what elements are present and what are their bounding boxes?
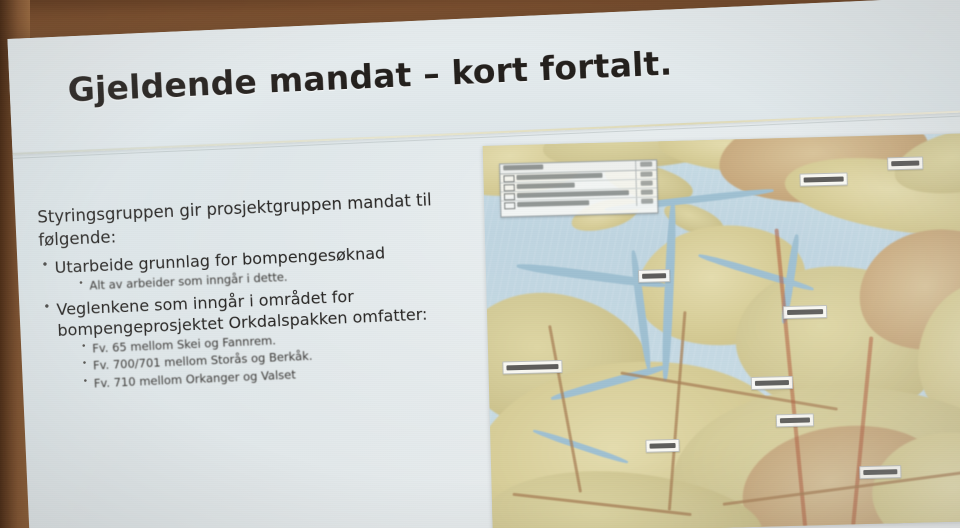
map-place-label bbox=[502, 360, 562, 375]
projected-slide-wrapper: Gjeldende mandat – kort fortalt. Styring… bbox=[0, 0, 960, 528]
slide-bullet-list: Utarbeide grunnlag for bompengesøknad Al… bbox=[39, 239, 475, 394]
slide-bullet: Veglenkene som inngår i området for bomp… bbox=[41, 282, 475, 395]
slide-body: Styringsgruppen gir prosjektgruppen mand… bbox=[37, 187, 475, 400]
map-legend bbox=[499, 159, 658, 217]
map-place-label bbox=[887, 156, 923, 170]
map-place-label bbox=[751, 376, 793, 390]
map-place-label bbox=[783, 305, 827, 319]
map-place-label bbox=[776, 413, 814, 427]
screenshot-root: Gjeldende mandat – kort fortalt. Styring… bbox=[0, 0, 960, 528]
map-place-label bbox=[645, 439, 679, 453]
map-place-label bbox=[638, 269, 670, 283]
presentation-slide: Gjeldende mandat – kort fortalt. Styring… bbox=[7, 0, 960, 528]
map-place-label bbox=[859, 465, 901, 479]
map-place-label bbox=[799, 172, 847, 186]
slide-map-image bbox=[483, 133, 960, 528]
